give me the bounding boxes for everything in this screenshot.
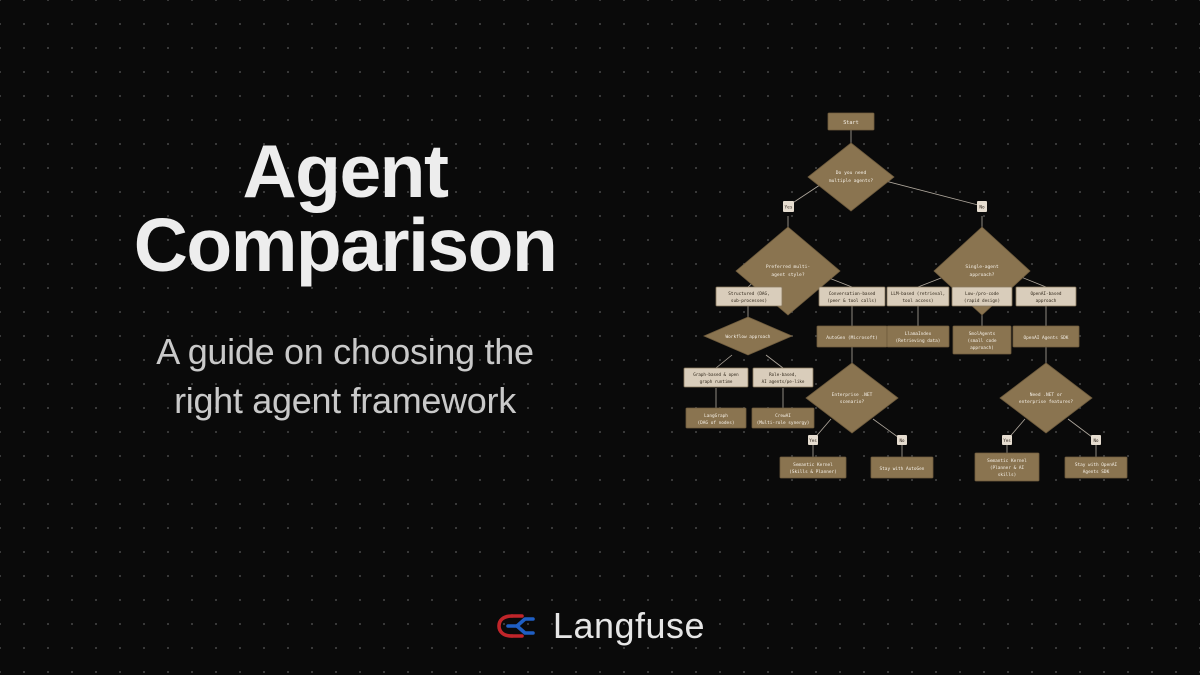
node-q-need-dotnet[interactable]: Need .NET or enterprise features? <box>1000 363 1092 433</box>
svg-text:Yes: Yes <box>1003 438 1011 443</box>
node-q-workflow-approach[interactable]: Workflow approach <box>704 317 792 355</box>
page-subtitle-line-2: right agent framework <box>156 377 533 426</box>
hero-section: Agent Comparison A guide on choosing the… <box>0 0 690 560</box>
svg-text:Graph-based & open: Graph-based & open <box>693 372 739 377</box>
svg-text:multiple agents?: multiple agents? <box>829 178 873 184</box>
brand-name: Langfuse <box>553 605 705 647</box>
page-title-line-1: Agent <box>243 129 448 213</box>
svg-text:OpenAI Agents SDK: OpenAI Agents SDK <box>1024 335 1069 341</box>
page-title-line-2: Comparison <box>134 208 557 282</box>
svg-text:CrewAI: CrewAI <box>775 413 791 419</box>
node-start[interactable]: Start <box>828 113 874 130</box>
svg-text:agent style?: agent style? <box>771 272 804 278</box>
svg-text:AI agents/pe-like: AI agents/pe-like <box>762 379 805 384</box>
svg-text:approach: approach <box>1036 298 1057 304</box>
node-semantic-kernel-skills[interactable]: Semantic Kernel (Skills & Planner) <box>780 457 846 478</box>
svg-text:Low-/pro-code: Low-/pro-code <box>965 291 999 297</box>
node-llm-based[interactable]: LLM-based (retrieval, tool access) <box>887 287 949 306</box>
svg-text:skills): skills) <box>998 472 1017 478</box>
svg-text:(peer & tool calls): (peer & tool calls) <box>827 298 876 304</box>
page-subtitle: A guide on choosing the right agent fram… <box>156 328 533 426</box>
edge-label-no-3: No <box>1091 435 1101 445</box>
svg-text:Conversation-based: Conversation-based <box>829 291 876 297</box>
svg-text:Enterprise .NET: Enterprise .NET <box>832 392 873 398</box>
svg-text:Agents SDK: Agents SDK <box>1083 469 1110 475</box>
svg-text:Role-based,: Role-based, <box>769 372 797 377</box>
svg-text:(rapid design): (rapid design) <box>964 298 1000 304</box>
svg-text:Single-agent: Single-agent <box>965 264 998 270</box>
node-q-enterprise-dotnet[interactable]: Enterprise .NET scenario? <box>806 363 898 433</box>
node-conversation-based[interactable]: Conversation-based (peer & tool calls) <box>819 287 885 306</box>
svg-text:sub-processes): sub-processes) <box>731 298 767 304</box>
svg-text:Stay with OpenAI: Stay with OpenAI <box>1075 462 1118 468</box>
svg-text:Structured (DAG,: Structured (DAG, <box>728 291 769 297</box>
svg-text:Yes: Yes <box>785 205 793 211</box>
svg-text:graph runtime: graph runtime <box>700 379 733 384</box>
node-stay-with-openai[interactable]: Stay with OpenAI Agents SDK <box>1065 457 1127 478</box>
edge-label-yes-1: Yes <box>783 201 794 212</box>
node-low-pro-code[interactable]: Low-/pro-code (rapid design) <box>952 287 1012 306</box>
svg-text:approach?: approach? <box>970 272 995 278</box>
svg-text:LLM-based (retrieval,: LLM-based (retrieval, <box>891 291 945 297</box>
svg-text:Yes: Yes <box>809 438 817 443</box>
node-llamaindex[interactable]: LlamaIndex (Retrieving data) <box>887 326 949 347</box>
svg-text:Need .NET or: Need .NET or <box>1030 392 1063 398</box>
edge-label-no-1: No <box>977 201 987 212</box>
slide-canvas: Agent Comparison A guide on choosing the… <box>0 0 1200 675</box>
node-autogen[interactable]: AutoGen (Microsoft) <box>817 326 887 347</box>
node-semantic-kernel-planner[interactable]: Semantic Kernel (Planner & AI skills) <box>975 453 1039 481</box>
node-openai-based[interactable]: OpenAI-based approach <box>1016 287 1076 306</box>
svg-text:approach): approach) <box>970 345 994 351</box>
node-q-multiple-agents[interactable]: Do you need multiple agents? <box>808 143 894 211</box>
svg-text:(Skills & Planner): (Skills & Planner) <box>789 469 837 475</box>
decision-tree-diagram: Start Do you need multiple agents? Yes N… <box>680 95 1150 515</box>
svg-text:No: No <box>1093 438 1099 443</box>
brand-footer: Langfuse <box>0 605 1200 647</box>
svg-text:AutoGen (Microsoft): AutoGen (Microsoft) <box>826 335 877 341</box>
page-subtitle-line-1: A guide on choosing the <box>156 331 533 372</box>
svg-text:LangGraph: LangGraph <box>704 413 728 419</box>
svg-text:No: No <box>899 438 905 443</box>
svg-text:(Planner & AI: (Planner & AI <box>990 465 1025 471</box>
node-role-based[interactable]: Role-based, AI agents/pe-like <box>753 368 813 387</box>
svg-text:No: No <box>979 205 985 211</box>
svg-text:OpenAI-based: OpenAI-based <box>1030 291 1061 297</box>
node-crewai[interactable]: CrewAI (Multi-role synergy) <box>752 408 814 428</box>
node-langgraph[interactable]: LangGraph (DAG of nodes) <box>686 408 746 428</box>
node-smolagents[interactable]: SmolAgents (small code approach) <box>953 326 1011 354</box>
svg-text:(small code: (small code <box>967 338 996 344</box>
langfuse-logo-icon <box>495 611 537 641</box>
node-openai-agents-sdk[interactable]: OpenAI Agents SDK <box>1013 326 1079 347</box>
node-start-label: Start <box>843 120 859 126</box>
edge-label-yes-2: Yes <box>808 435 818 445</box>
svg-text:(Retrieving data): (Retrieving data) <box>896 338 941 344</box>
node-q-multiple-agents-label: Do you need <box>836 170 867 176</box>
svg-text:(Multi-role synergy): (Multi-role synergy) <box>757 420 810 426</box>
node-structured[interactable]: Structured (DAG, sub-processes) <box>716 287 782 306</box>
diagram-nodes: Start Do you need multiple agents? Yes N… <box>684 113 1127 481</box>
svg-text:scenario?: scenario? <box>840 399 865 405</box>
svg-text:Semantic Kernel: Semantic Kernel <box>793 462 833 468</box>
svg-text:SmolAgents: SmolAgents <box>969 331 996 337</box>
svg-text:tool access): tool access) <box>902 298 933 304</box>
svg-text:Workflow approach: Workflow approach <box>726 334 771 340</box>
svg-text:Stay with AutoGen: Stay with AutoGen <box>880 466 925 472</box>
node-graph-based[interactable]: Graph-based & open graph runtime <box>684 368 748 387</box>
edge-label-no-2: No <box>897 435 907 445</box>
svg-text:(DAG of nodes): (DAG of nodes) <box>697 420 734 426</box>
page-title: Agent Comparison <box>134 134 557 283</box>
edge-label-yes-3: Yes <box>1002 435 1012 445</box>
svg-text:enterprise features?: enterprise features? <box>1019 399 1073 405</box>
node-stay-with-autogen[interactable]: Stay with AutoGen <box>871 457 933 478</box>
svg-text:Semantic Kernel: Semantic Kernel <box>987 458 1027 464</box>
svg-text:Preferred multi-: Preferred multi- <box>766 264 810 270</box>
decision-tree-svg: Start Do you need multiple agents? Yes N… <box>680 95 1150 515</box>
svg-text:LlamaIndex: LlamaIndex <box>905 331 932 337</box>
